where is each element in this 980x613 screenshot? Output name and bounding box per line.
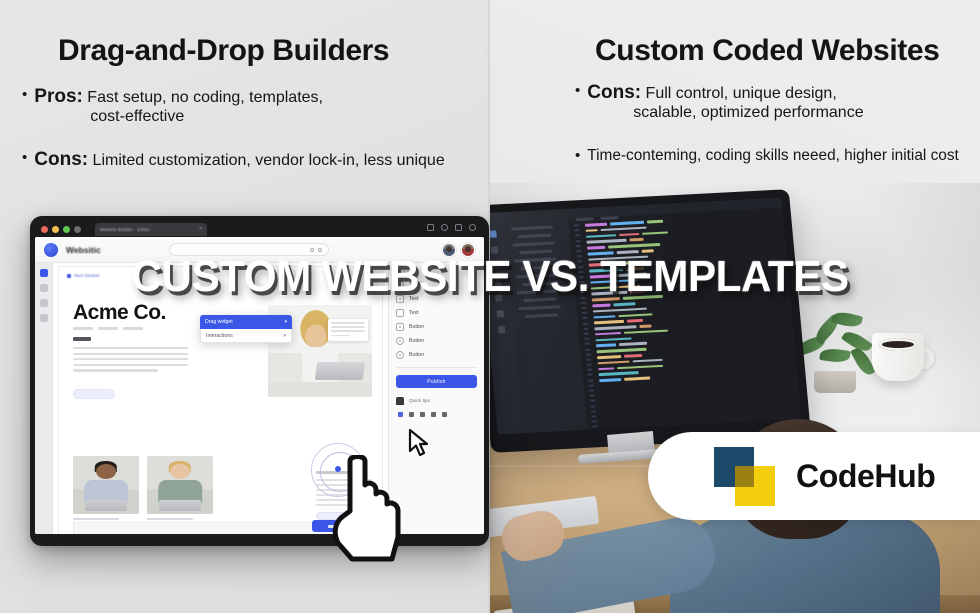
dropdown-option-label: Interactions: [206, 333, 233, 339]
divider: [396, 367, 477, 368]
bullet-text: Full control, unique design,: [646, 85, 837, 102]
bullet-text: Fast setup, no coding, templates,: [87, 89, 323, 106]
bullet-continuation: scalable, optimized performance: [587, 104, 863, 123]
rail-icon-elements[interactable]: [40, 284, 48, 292]
browser-mockup: Website Builder - Editor × Websitic: [30, 216, 489, 546]
search-icon[interactable]: [469, 224, 476, 231]
codehub-logo-icon: [714, 447, 776, 505]
quick-tips-row[interactable]: Quick tips: [396, 397, 477, 405]
coffee-mug: [872, 333, 924, 381]
builder-left-rail: [35, 263, 53, 534]
bullet-label: Cons:: [587, 82, 641, 103]
monitor-with-code-editor: [490, 189, 811, 453]
left-bullet-list: • Pros: Fast setup, no coding, templates…: [22, 86, 482, 172]
element-label: Text: [409, 296, 419, 302]
bullet-label: Pros:: [34, 86, 83, 107]
close-traffic-light-icon[interactable]: [41, 226, 48, 233]
element-label: Text: [409, 282, 419, 288]
slide-canvas: Drag-and-Drop Builders • Pros: Fast setu…: [0, 0, 980, 613]
dropdown-selected-label: Drag widget: [205, 319, 233, 325]
bullet-dot-icon: •: [22, 86, 27, 105]
plant-pot: [814, 371, 856, 393]
section-tag: Hero Section: [67, 273, 99, 278]
right-bullet-list: • Cons: Full control, unique design, sca…: [575, 82, 980, 166]
list-item: • Time-conteming, coding skills neeed, h…: [575, 147, 980, 166]
card-caption: [147, 518, 193, 520]
bullet-dot-icon: •: [575, 147, 580, 166]
dropdown-second-option[interactable]: Interactions ▾: [200, 329, 292, 343]
avatar[interactable]: [442, 243, 456, 257]
hero-paragraph: [73, 347, 188, 375]
circle-nested-icon: [396, 351, 404, 359]
hero-cta-button[interactable]: [73, 389, 115, 399]
extra-traffic-light-icon[interactable]: [74, 226, 81, 233]
list-item: • Cons: Full control, unique design, sca…: [575, 82, 980, 123]
bullet-spacer: [575, 123, 980, 147]
bullet-continuation: cost-effective: [34, 108, 323, 127]
chevron-down-icon: ▾: [284, 319, 287, 325]
list-item[interactable]: Text: [396, 306, 477, 320]
element-label: Button: [409, 338, 424, 344]
hand-pointer-cursor: [330, 455, 404, 563]
right-panel-heading: Custom Coded Websites: [595, 34, 939, 68]
history-icon[interactable]: [441, 224, 448, 231]
browser-window-controls: [427, 224, 476, 231]
bullet-spacer: [22, 127, 482, 149]
bullet-dot-icon: •: [22, 149, 27, 168]
list-item: • Cons: Limited customization, vendor lo…: [22, 149, 482, 171]
list-item[interactable]: Button: [396, 320, 477, 334]
hero-kicker: [73, 337, 91, 341]
arrow-cursor: [408, 428, 430, 458]
builder-workspace: Hero Section Acme Co.: [35, 263, 484, 534]
bullet-text: Time-conteming, coding skills neeed, hig…: [587, 147, 959, 164]
maximize-traffic-light-icon[interactable]: [63, 226, 70, 233]
browser-viewport: Websitic: [35, 237, 484, 534]
pen-icon[interactable]: [409, 412, 414, 417]
tool-icon-row: [396, 412, 477, 417]
list-item[interactable]: [73, 456, 139, 520]
rail-icon-assets[interactable]: [40, 299, 48, 307]
code-editor-screen: [490, 198, 802, 435]
list-item[interactable]: Button: [396, 334, 477, 348]
close-icon[interactable]: ×: [199, 226, 202, 232]
search-input[interactable]: [169, 243, 329, 256]
list-item[interactable]: Button: [396, 348, 477, 362]
bell-icon: [396, 397, 404, 405]
cursor-icon[interactable]: [398, 412, 403, 417]
desk-photo: [490, 183, 980, 613]
app-header: Websitic: [35, 237, 484, 263]
app-logo-icon[interactable]: [44, 243, 58, 257]
list-item[interactable]: Text: [396, 292, 477, 306]
list-item[interactable]: Text: [396, 278, 477, 292]
shape-icon[interactable]: [420, 412, 425, 417]
circle-nested-icon: [396, 337, 404, 345]
list-item[interactable]: [147, 456, 213, 520]
card-grid: [73, 456, 213, 520]
avatar-group: [442, 243, 475, 257]
hero-callout-card: [328, 319, 368, 341]
list-item: • Pros: Fast setup, no coding, templates…: [22, 86, 482, 127]
bullet-dot-icon: •: [575, 82, 580, 101]
element-label: Button: [409, 352, 424, 358]
brand-logo-pill: CodeHub: [648, 432, 980, 520]
circle-icon: [396, 281, 404, 289]
split-icon[interactable]: [455, 224, 462, 231]
section-tag-label: Hero Section: [74, 273, 99, 278]
minimize-traffic-light-icon[interactable]: [52, 226, 59, 233]
elements-panel-header: Elements: [396, 268, 477, 273]
element-label: Text: [409, 310, 419, 316]
section-tag-icon: [67, 274, 71, 278]
link-icon[interactable]: [442, 412, 447, 417]
rail-icon-pages[interactable]: [40, 269, 48, 277]
bullet-text: Limited customization, vendor lock-in, l…: [93, 152, 445, 169]
browser-tab-label: Website Builder - Editor: [100, 227, 150, 232]
square-icon: [396, 309, 404, 317]
browser-titlebar: Website Builder - Editor ×: [35, 221, 484, 237]
publish-button[interactable]: Publish: [396, 375, 477, 388]
avatar[interactable]: [461, 243, 475, 257]
share-icon[interactable]: [427, 224, 434, 231]
logo-square-overlap: [735, 466, 754, 487]
search-icon: [318, 248, 322, 252]
ide-code-area: [568, 198, 802, 430]
chevron-down-icon: ▾: [283, 333, 286, 339]
image-icon[interactable]: [431, 412, 436, 417]
widget-dropdown[interactable]: Drag widget ▾ Interactions ▾: [200, 315, 292, 343]
square-icon: [396, 295, 404, 303]
dropdown-selected[interactable]: Drag widget ▾: [200, 315, 292, 329]
quick-tips-label: Quick tips: [409, 399, 430, 404]
element-label: Button: [409, 324, 424, 330]
keyboard-shortcut-icon: [310, 248, 314, 252]
hero-subnav: [73, 327, 143, 330]
browser-tab[interactable]: Website Builder - Editor ×: [95, 223, 207, 236]
card-caption: [73, 518, 119, 520]
nested-square-icon: [396, 323, 404, 331]
app-name: Websitic: [66, 245, 101, 255]
left-panel-heading: Drag-and-Drop Builders: [58, 34, 389, 68]
brand-name: CodeHub: [796, 458, 935, 495]
hero-title: Acme Co.: [73, 301, 166, 325]
bullet-label: Cons:: [34, 149, 88, 170]
rail-icon-settings[interactable]: [40, 314, 48, 322]
